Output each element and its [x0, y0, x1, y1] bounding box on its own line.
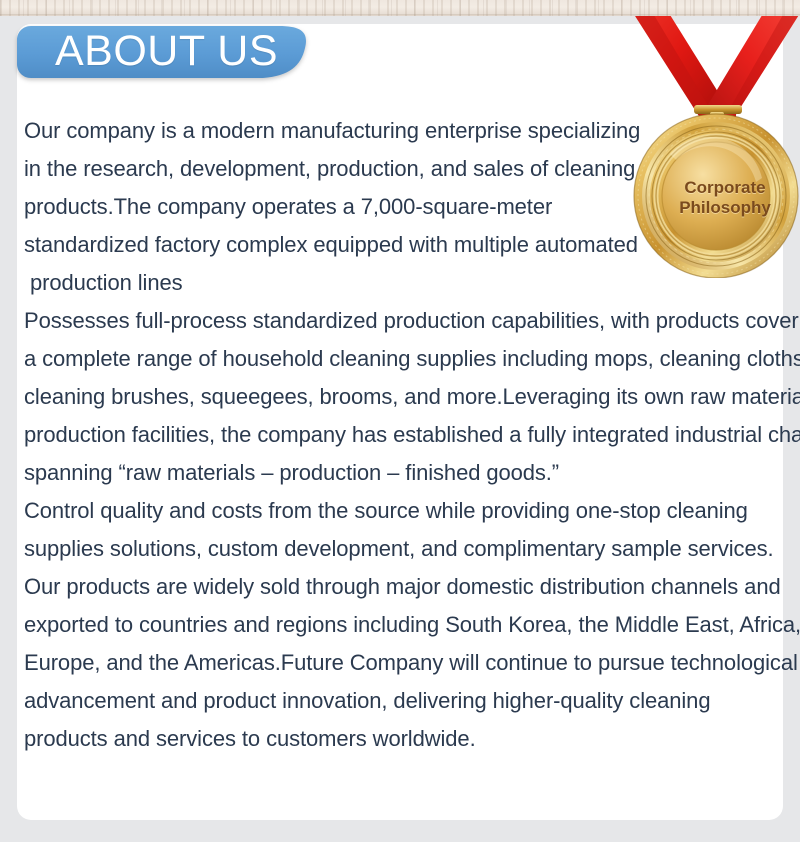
page-title: ABOUT US [55, 30, 278, 73]
text-line: Europe, and the Americas.Future Company … [24, 644, 776, 682]
text-line: supplies solutions, custom development, … [24, 530, 776, 568]
text-line: Our products are widely sold through maj… [24, 568, 776, 606]
text-line: cleaning brushes, squeegees, brooms, and… [24, 378, 776, 416]
text-line: products and services to customers world… [24, 720, 776, 758]
text-line: Possesses full-process standardized prod… [24, 302, 776, 340]
text-line: exported to countries and regions includ… [24, 606, 776, 644]
corporate-philosophy-medal [630, 0, 800, 278]
text-line: Control quality and costs from the sourc… [24, 492, 776, 530]
text-line: spanning “raw materials – production – f… [24, 454, 776, 492]
paragraph-3: Control quality and costs from the sourc… [24, 492, 776, 758]
wood-texture-strip [0, 0, 800, 16]
text-line: a complete range of household cleaning s… [24, 340, 776, 378]
text-line: production facilities, the company has e… [24, 416, 776, 454]
text-line: advancement and product innovation, deli… [24, 682, 776, 720]
paragraph-2: Possesses full-process standardized prod… [24, 302, 776, 492]
